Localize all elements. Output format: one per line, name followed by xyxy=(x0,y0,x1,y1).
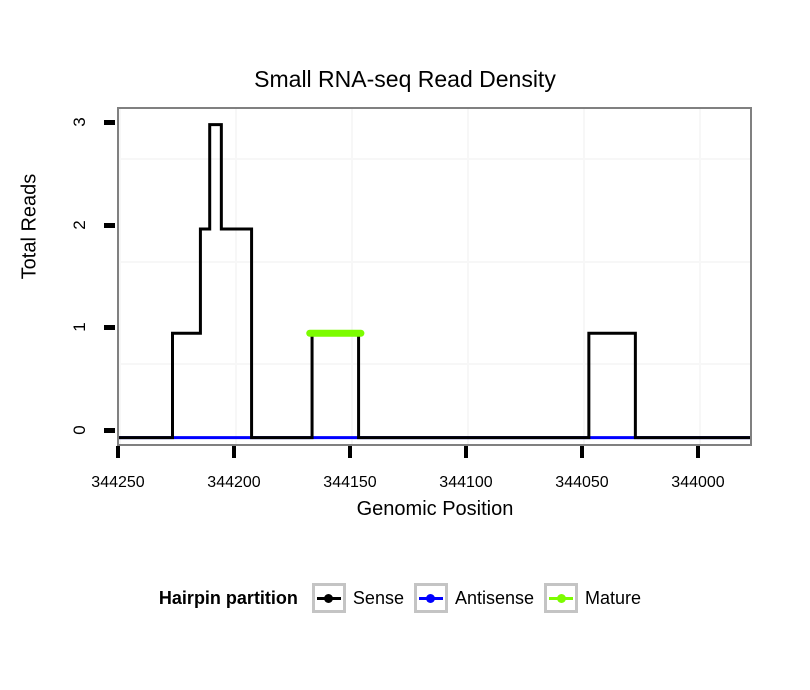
chart-legend: Hairpin partition Sense Antisense Mature xyxy=(0,583,810,613)
x-tick-mark-344100 xyxy=(464,446,468,458)
legend-key-mature xyxy=(544,583,578,613)
x-tick-mark-344200 xyxy=(232,446,236,458)
legend-title: Hairpin partition xyxy=(159,588,298,609)
x-tick-mark-344000 xyxy=(696,446,700,458)
legend-dot-sense xyxy=(324,594,333,603)
x-tick-label-344250: 344250 xyxy=(63,474,173,492)
legend-entry-sense[interactable]: Sense xyxy=(312,583,404,613)
x-tick-mark-344050 xyxy=(580,446,584,458)
y-tick-mark-2 xyxy=(104,223,115,228)
chart-figure: Small RNA-seq Read Density Total Reads 3… xyxy=(0,0,810,690)
plot-panel xyxy=(117,107,752,446)
chart-title: Small RNA-seq Read Density xyxy=(0,66,810,93)
legend-label-antisense: Antisense xyxy=(455,588,534,609)
legend-label-sense: Sense xyxy=(353,588,404,609)
x-tick-label-344100: 344100 xyxy=(411,474,521,492)
y-axis-label: Total Reads xyxy=(19,137,42,317)
legend-key-sense xyxy=(312,583,346,613)
y-tick-label-3: 3 xyxy=(70,102,90,142)
y-tick-label-0: 0 xyxy=(70,410,90,450)
legend-entry-antisense[interactable]: Antisense xyxy=(414,583,534,613)
x-tick-mark-344150 xyxy=(348,446,352,458)
legend-label-mature: Mature xyxy=(585,588,641,609)
legend-entry-mature[interactable]: Mature xyxy=(544,583,641,613)
legend-key-antisense xyxy=(414,583,448,613)
legend-dot-antisense xyxy=(426,594,435,603)
x-axis-label: Genomic Position xyxy=(117,498,753,521)
legend-dot-mature xyxy=(557,594,566,603)
y-tick-label-1: 1 xyxy=(70,307,90,347)
x-tick-mark-344250 xyxy=(116,446,120,458)
x-tick-label-344000: 344000 xyxy=(643,474,753,492)
x-tick-label-344050: 344050 xyxy=(527,474,637,492)
x-tick-label-344200: 344200 xyxy=(179,474,289,492)
y-tick-label-2: 2 xyxy=(70,205,90,245)
y-tick-mark-1 xyxy=(104,325,115,330)
series-sense xyxy=(119,125,752,438)
series-layer xyxy=(119,109,752,446)
y-tick-mark-3 xyxy=(104,120,115,125)
x-tick-label-344150: 344150 xyxy=(295,474,405,492)
y-tick-mark-0 xyxy=(104,428,115,433)
